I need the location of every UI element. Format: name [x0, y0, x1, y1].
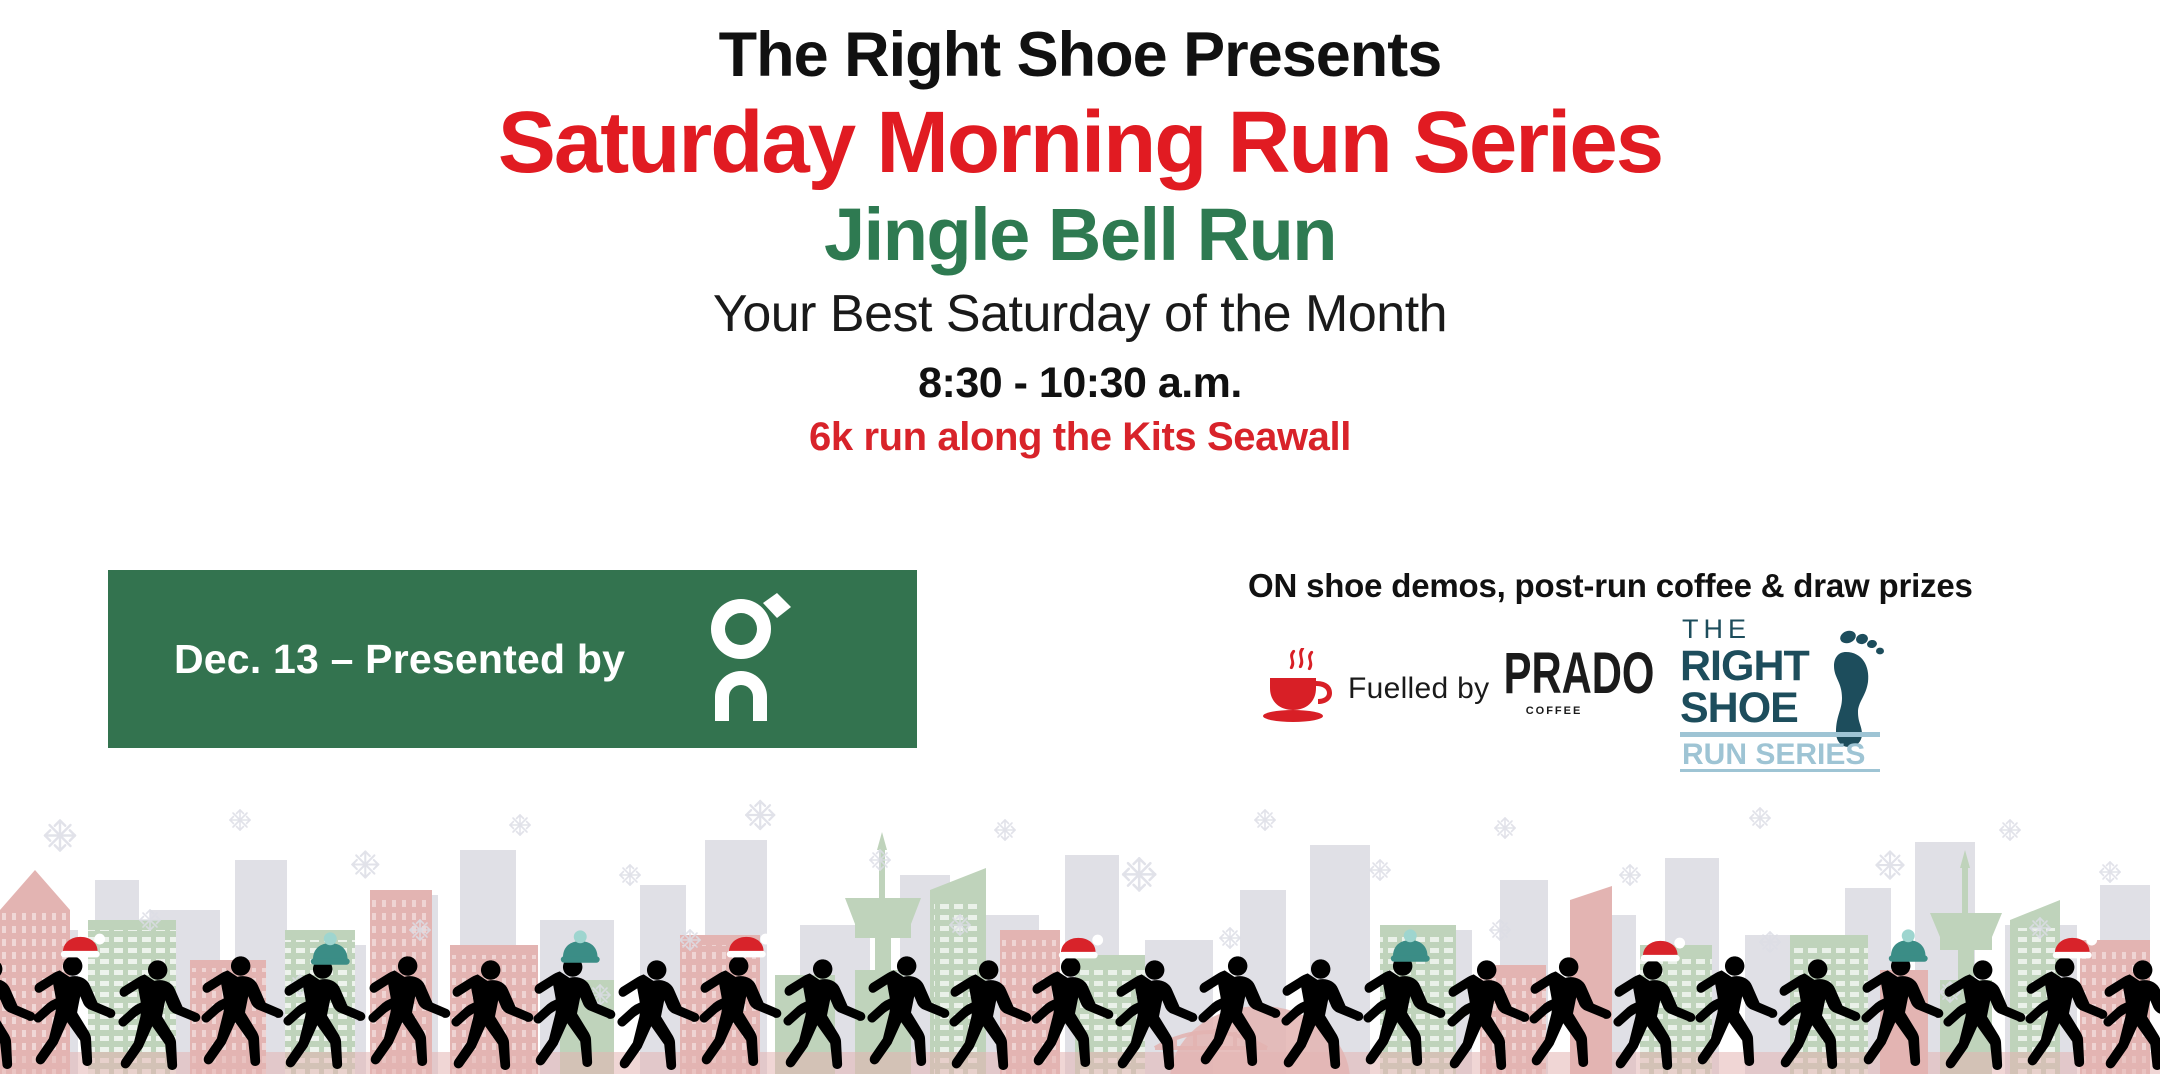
presents-line: The Right Shoe Presents [0, 22, 2160, 88]
coffee-cup-icon [1262, 648, 1336, 729]
headline-block: The Right Shoe Presents Saturday Morning… [0, 22, 2160, 460]
event-time: 8:30 - 10:30 a.m. [0, 359, 2160, 408]
presenter-banner: Dec. 13 – Presented by [108, 570, 917, 748]
event-poster: The Right Shoe Presents Saturday Morning… [0, 0, 2160, 1080]
sponsor-row: Fuelled by PRADO COFFEE THE RIGHT SHOE R… [1248, 628, 2008, 763]
fuelled-by-label: Fuelled by [1348, 672, 1489, 706]
svg-text:RIGHT: RIGHT [1680, 642, 1810, 690]
series-title: Saturday Morning Run Series [0, 94, 2160, 191]
prado-wordmark: PRADO [1504, 646, 1605, 701]
svg-text:RUN SERIES: RUN SERIES [1682, 738, 1865, 771]
event-title: Jingle Bell Run [0, 194, 2160, 275]
svg-text:SHOE: SHOE [1680, 684, 1798, 732]
prado-subtext: COFFEE [1484, 705, 1624, 717]
prado-coffee-logo: PRADO COFFEE [1484, 646, 1624, 717]
on-running-logo [705, 593, 797, 726]
svg-text:THE: THE [1682, 614, 1751, 644]
tagline: Your Best Saturday of the Month [0, 285, 2160, 345]
winter-skyline-scene [0, 780, 2160, 1080]
event-distance: 6k run along the Kits Seawall [0, 414, 2160, 460]
the-right-shoe-logo: THE RIGHT SHOE RUN SERIES [1678, 612, 1898, 777]
presenter-banner-text: Dec. 13 – Presented by [174, 636, 625, 683]
perks-line: ON shoe demos, post-run coffee & draw pr… [1248, 567, 1988, 605]
